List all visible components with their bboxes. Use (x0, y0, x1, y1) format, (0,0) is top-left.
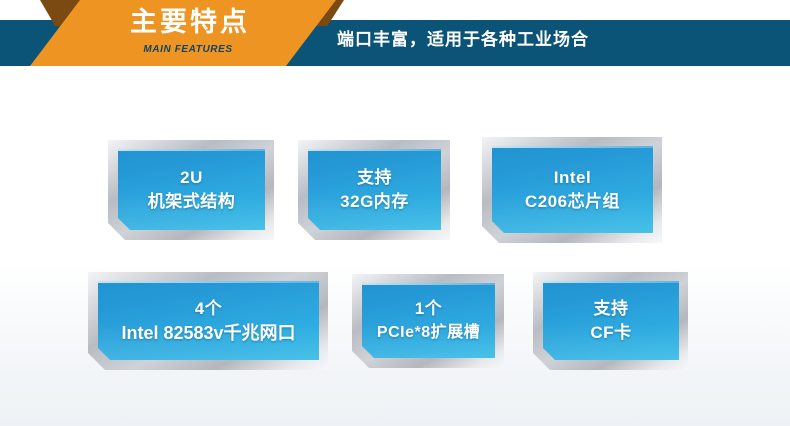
feature-box: 1个 PCIe*8扩展槽 (352, 274, 504, 368)
page-title-english: MAIN FEATURES (88, 44, 288, 56)
feature-line-secondary: CF卡 (590, 321, 631, 345)
banner-tagline: 端口丰富，适用于各种工业场合 (337, 28, 589, 52)
feature-line-primary: 2U (180, 166, 203, 190)
feature-line-primary: 1个 (415, 297, 442, 321)
header-banner: 主要特点 MAIN FEATURES 端口丰富，适用于各种工业场合 (0, 0, 790, 72)
feature-box: Intel C206芯片组 (482, 137, 662, 243)
feature-line-primary: 支持 (594, 297, 629, 321)
feature-line-secondary: 机架式结构 (148, 190, 236, 214)
feature-line-secondary: C206芯片组 (525, 190, 620, 214)
page-title: 主要特点 (90, 7, 290, 37)
feature-box: 2U 机架式结构 (108, 140, 274, 240)
feature-box-panel: 2U 机架式结构 (118, 149, 265, 230)
feature-line-primary: 4个 (195, 297, 222, 321)
feature-slide: 主要特点 MAIN FEATURES 端口丰富，适用于各种工业场合 2U 机架式… (0, 0, 790, 426)
feature-line-primary: 支持 (357, 166, 392, 190)
feature-line-secondary: 32G内存 (340, 190, 409, 214)
feature-box-grid: 2U 机架式结构 支持 32G内存 Intel C206芯片组 4个 Intel… (0, 72, 790, 426)
feature-box-panel: Intel C206芯片组 (492, 146, 653, 233)
feature-box-panel: 支持 32G内存 (308, 149, 441, 230)
feature-line-secondary: PCIe*8扩展槽 (377, 321, 480, 345)
feature-box-panel: 支持 CF卡 (543, 281, 679, 360)
feature-box-panel: 4个 Intel 82583v千兆网口 (98, 281, 319, 360)
feature-line-secondary: Intel 82583v千兆网口 (121, 321, 295, 345)
feature-box: 4个 Intel 82583v千兆网口 (88, 272, 328, 370)
feature-line-primary: Intel (554, 166, 591, 190)
feature-box: 支持 CF卡 (533, 272, 688, 370)
feature-box: 支持 32G内存 (298, 140, 450, 240)
feature-box-panel: 1个 PCIe*8扩展槽 (362, 283, 495, 358)
